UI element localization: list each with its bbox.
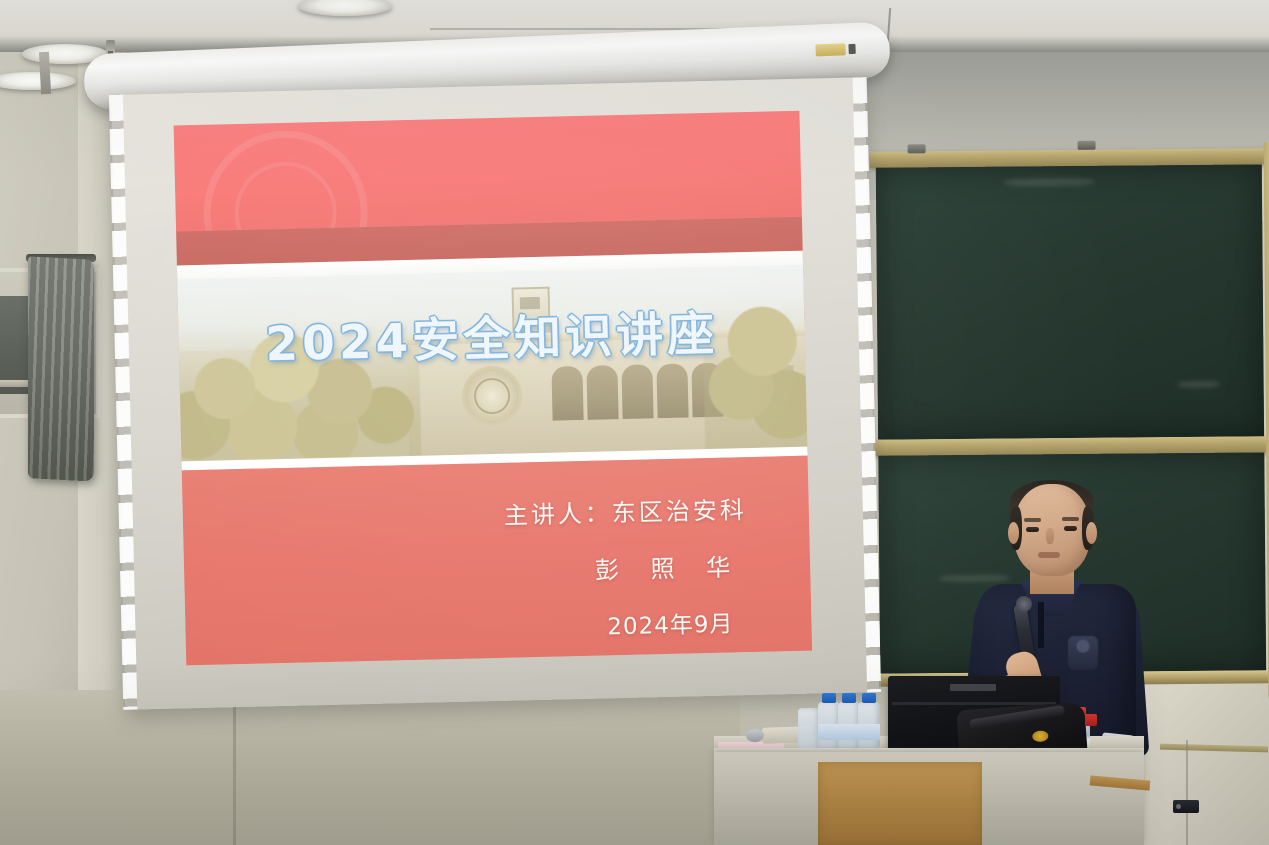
chalkboard-panel-upper (876, 164, 1264, 439)
presentation-slide: 2024安全知识讲座 主讲人：东区治安科 彭 照 华 2024年9月 (174, 111, 813, 666)
water-bottle[interactable] (838, 702, 860, 750)
water-bottle[interactable] (858, 702, 880, 750)
bottle-cap (862, 693, 876, 703)
sprinkler-head-icon (106, 40, 115, 54)
projector-screen: 2024安全知识讲座 主讲人：东区治安科 彭 照 华 2024年9月 (111, 77, 879, 710)
wall-conduit (1186, 740, 1188, 845)
bottle-label (818, 724, 840, 740)
lecture-hall-photo: 2024安全知识讲座 主讲人：东区治安科 彭 照 华 2024年9月 (0, 0, 1269, 845)
bag-strap (969, 705, 1065, 730)
presenter-eye (1064, 526, 1077, 531)
presenter-placket (1038, 602, 1044, 648)
bottle-cap (822, 693, 836, 703)
bottle-cap (842, 693, 856, 703)
board-clip-icon (1078, 141, 1096, 150)
monitor-brand-logo (950, 684, 996, 691)
photo-arch (586, 365, 618, 420)
presenter-eye (1026, 527, 1039, 532)
presenter-ear (1086, 522, 1097, 544)
roller-bracket (39, 52, 51, 94)
slide-title: 2024安全知识讲座 (178, 293, 805, 377)
presenter-mouth (1038, 552, 1060, 558)
presenter-nose (1046, 528, 1054, 544)
wall-seam (233, 700, 236, 845)
slide-presenter-name: 彭 照 华 (184, 547, 749, 595)
lectern-wood-panel (818, 762, 982, 845)
wall-socket-icon[interactable] (1173, 800, 1199, 813)
photo-arch (621, 364, 653, 419)
bottle-label (858, 724, 880, 740)
chalk-smudge (1178, 381, 1220, 388)
slide-presenter-block: 主讲人：东区治安科 彭 照 华 2024年9月 (183, 489, 812, 652)
slide-top-band (174, 111, 802, 232)
bag-red-tag (1085, 714, 1097, 726)
shirt-emblem-icon (1068, 636, 1098, 670)
photo-arch (551, 366, 583, 421)
bottle-label (838, 724, 860, 740)
lower-wall-band (0, 690, 740, 845)
photo-arch (656, 363, 688, 418)
presenter-brow (1024, 518, 1041, 522)
roller-brand-label (815, 43, 845, 56)
bag-emblem-icon (1032, 730, 1049, 742)
board-clip-icon (908, 144, 926, 153)
presenter-brow (1062, 517, 1079, 521)
window-curtain[interactable] (28, 256, 94, 481)
chalk-smudge (1004, 178, 1094, 187)
water-bottle[interactable] (818, 702, 840, 750)
presenter-ear (1008, 522, 1019, 544)
